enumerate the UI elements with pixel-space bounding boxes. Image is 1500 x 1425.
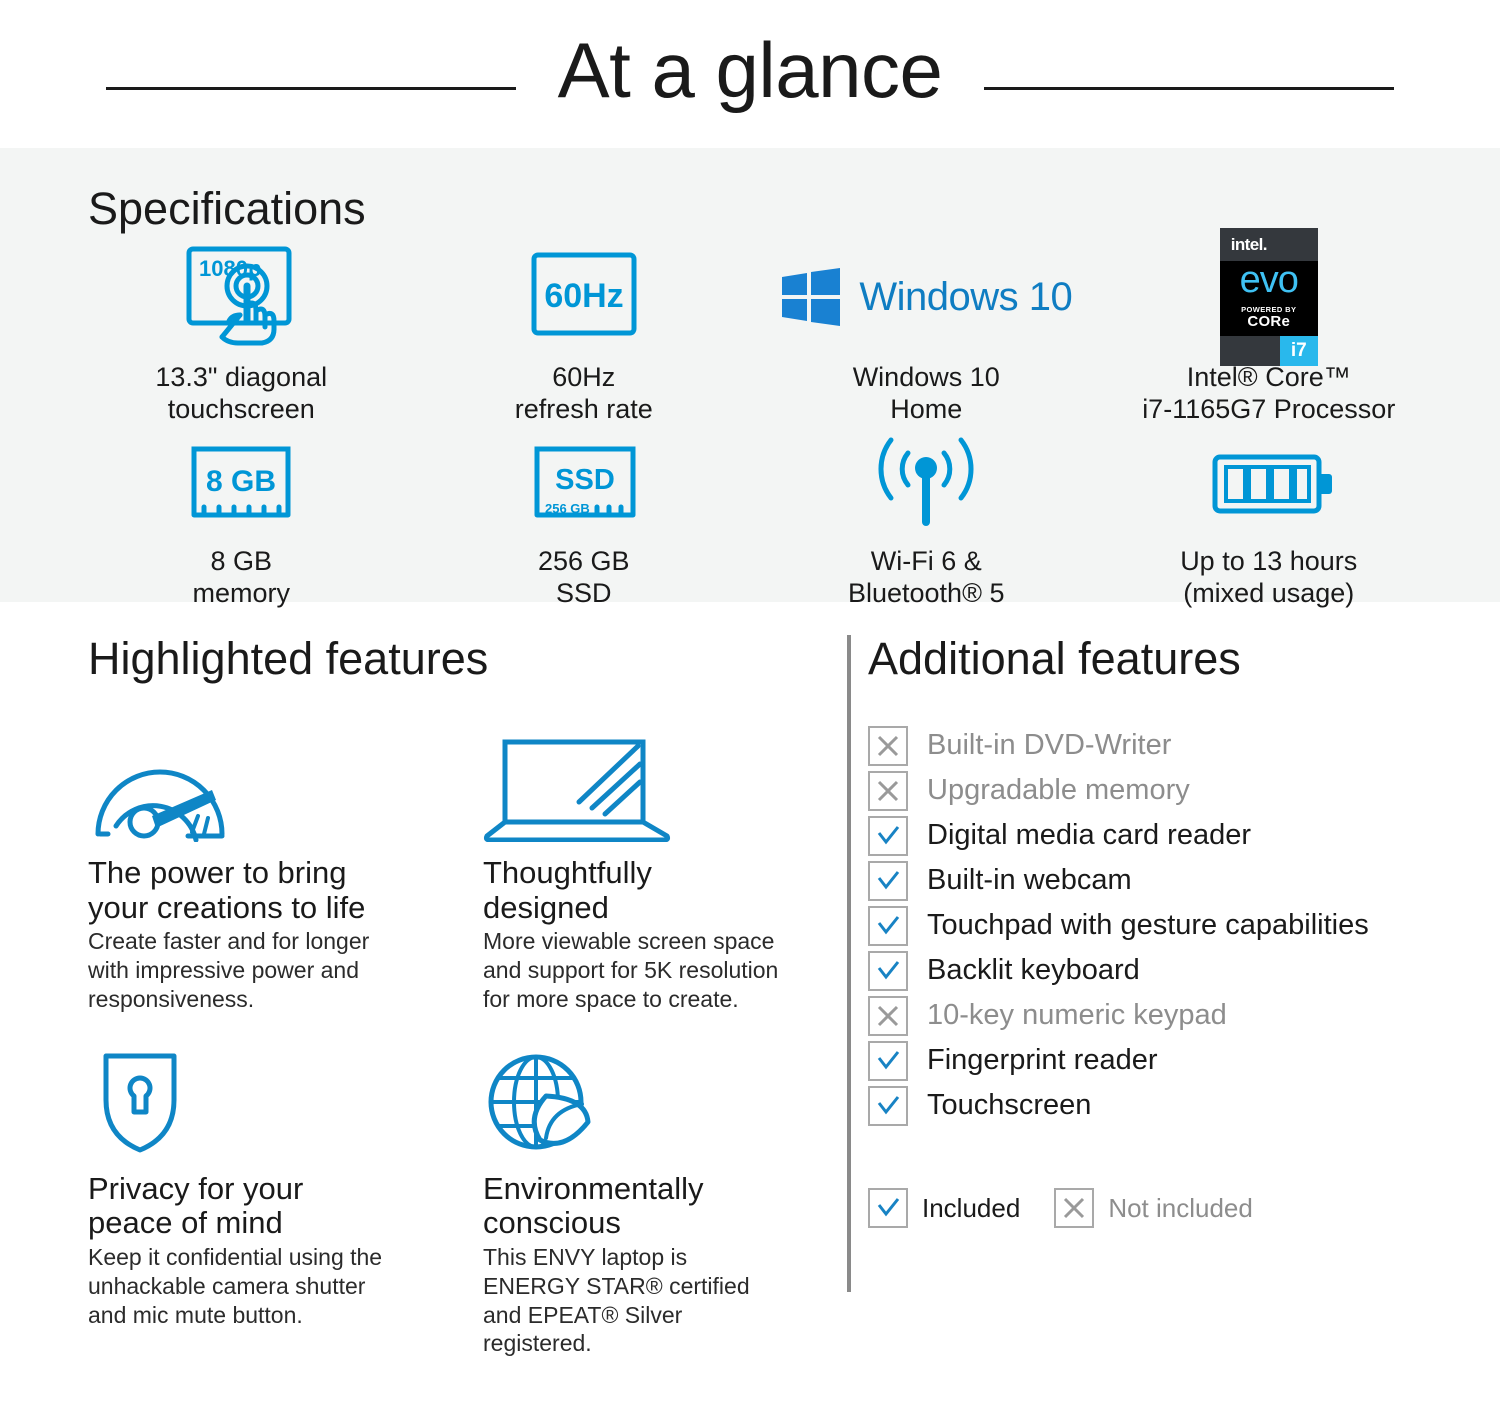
feature-item-design: Thoughtfully designed More viewable scre… [483,730,790,1014]
spec-label: 8 GB memory [192,546,290,610]
feature-title: Thoughtfully designed [483,856,790,925]
header-rule-right [984,87,1394,90]
intel-evo-wordmark: evo [1240,264,1298,296]
specifications-row-2: 8 GB 8 GB memory SSD 256 GB 256 GB SSD [70,426,1440,610]
feature-list-item-label: Built-in DVD-Writer [927,730,1171,762]
spec-item-touchscreen: 1080p 13.3" diagonal touchscreen [70,242,413,426]
svg-text:SSD: SSD [555,464,615,496]
feature-list-item: Fingerprint reader [868,1041,1500,1081]
check-icon [868,951,908,991]
close-icon [868,726,908,766]
intel-core-wordmark: CORe [1247,314,1290,329]
feature-item-power: The power to bring your creations to lif… [88,730,483,1014]
battery-icon [1197,432,1341,536]
feature-list-item: Built-in DVD-Writer [868,726,1500,766]
feature-item-environment: Environmentally conscious This ENVY lapt… [483,1046,790,1358]
legend-not-included: Not included [1054,1188,1253,1228]
close-icon [868,996,908,1036]
legend-included: Included [868,1188,1020,1228]
memory-module-icon: 8 GB [175,432,307,536]
spec-label: Up to 13 hours (mixed usage) [1180,546,1357,610]
feature-title: Environmentally conscious [483,1172,790,1241]
feature-title: The power to bring your creations to lif… [88,856,483,925]
spec-item-memory: 8 GB 8 GB memory [70,426,413,610]
feature-list-item: Digital media card reader [868,816,1500,856]
feature-list-item-label: 10-key numeric keypad [927,1000,1227,1032]
feature-list-item-label: Upgradable memory [927,775,1190,807]
svg-text:8 GB: 8 GB [206,465,276,498]
additional-features-list: Built-in DVD-WriterUpgradable memoryDigi… [868,726,1500,1126]
legend: Included Not included [868,1188,1500,1228]
feature-list-item-label: Touchscreen [927,1090,1091,1122]
feature-description: Keep it confidential using the unhackabl… [88,1243,483,1329]
feature-description: This ENVY laptop is ENERGY STAR® certifi… [483,1243,790,1358]
feature-list-item-label: Digital media card reader [927,820,1251,852]
check-icon [868,816,908,856]
feature-list-item: Touchpad with gesture capabilities [868,906,1500,946]
spec-label: 60Hz refresh rate [515,362,653,426]
specifications-row-1: 1080p 13.3" diagonal touchscreen [70,242,1440,426]
header-rule-left [106,87,516,90]
additional-features-heading: Additional features [868,632,1500,686]
check-icon [868,1086,908,1126]
highlighted-features-grid: The power to bring your creations to lif… [88,730,790,1358]
feature-list-item-label: Backlit keyboard [927,955,1140,987]
spec-label: Wi-Fi 6 & Bluetooth® 5 [848,546,1005,610]
spec-item-operating-system: Windows 10 Windows 10 Home [755,242,1098,426]
ssd-module-icon: SSD 256 GB [515,432,653,536]
feature-list-item: 10-key numeric keypad [868,996,1500,1036]
speedometer-icon [88,730,483,842]
spec-label: 13.3" diagonal touchscreen [155,362,327,426]
column-divider [847,635,851,1292]
check-icon [868,1188,908,1228]
feature-description: More viewable screen space and support f… [483,927,790,1013]
touchscreen-display-icon: 1080p [175,242,307,352]
feature-list-item: Built-in webcam [868,861,1500,901]
close-icon [868,771,908,811]
spec-label: 256 GB SSD [538,546,630,610]
check-icon [868,1041,908,1081]
intel-evo-badge-icon: intel. evo POWERED BY CORe i7 [1220,242,1318,352]
specifications-panel: Specifications 1080p 13.3" di [0,148,1500,602]
page-title: At a glance [558,31,943,117]
refresh-rate-icon: 60Hz [522,242,646,352]
spec-item-storage: SSD 256 GB 256 GB SSD [413,426,756,610]
windows-flag-icon [780,266,842,328]
feature-list-item: Backlit keyboard [868,951,1500,991]
spec-label: Intel® Core™ i7-1165G7 Processor [1142,362,1395,426]
check-icon [868,861,908,901]
bottom-section: Highlighted features [0,602,1500,1358]
feature-list-item-label: Built-in webcam [927,865,1132,897]
feature-list-item-label: Fingerprint reader [927,1045,1158,1077]
intel-wordmark: intel. [1220,228,1318,261]
spec-item-wireless: Wi-Fi 6 & Bluetooth® 5 [755,426,1098,610]
feature-description: Create faster and for longer with impres… [88,927,483,1013]
legend-not-included-label: Not included [1108,1193,1253,1224]
additional-features-column: Additional features Built-in DVD-WriterU… [790,632,1500,1358]
spec-item-battery: Up to 13 hours (mixed usage) [1098,426,1441,610]
feature-list-item: Upgradable memory [868,771,1500,811]
feature-title: Privacy for your peace of mind [88,1172,483,1241]
shield-keyhole-icon [88,1046,483,1158]
page-header: At a glance [0,0,1500,148]
intel-tier-badge: i7 [1280,336,1318,366]
globe-leaf-icon [483,1046,790,1158]
legend-included-label: Included [922,1193,1020,1224]
svg-text:256 GB: 256 GB [545,501,590,516]
svg-text:60Hz: 60Hz [544,277,623,315]
laptop-screen-icon [483,730,790,842]
feature-list-item: Touchscreen [868,1086,1500,1126]
windows-wordmark: Windows 10 [859,275,1072,320]
highlighted-features-column: Highlighted features [0,632,790,1358]
highlighted-features-heading: Highlighted features [88,632,790,686]
spec-item-refresh-rate: 60Hz 60Hz refresh rate [413,242,756,426]
spec-label: Windows 10 Home [853,362,1000,426]
check-icon [868,906,908,946]
wifi-antenna-icon [858,432,994,536]
windows-logo-icon: Windows 10 [780,242,1072,352]
close-icon [1054,1188,1094,1228]
feature-list-item-label: Touchpad with gesture capabilities [927,910,1369,942]
spec-item-processor: intel. evo POWERED BY CORe i7 Intel® Cor… [1098,242,1441,426]
feature-item-privacy: Privacy for your peace of mind Keep it c… [88,1046,483,1358]
